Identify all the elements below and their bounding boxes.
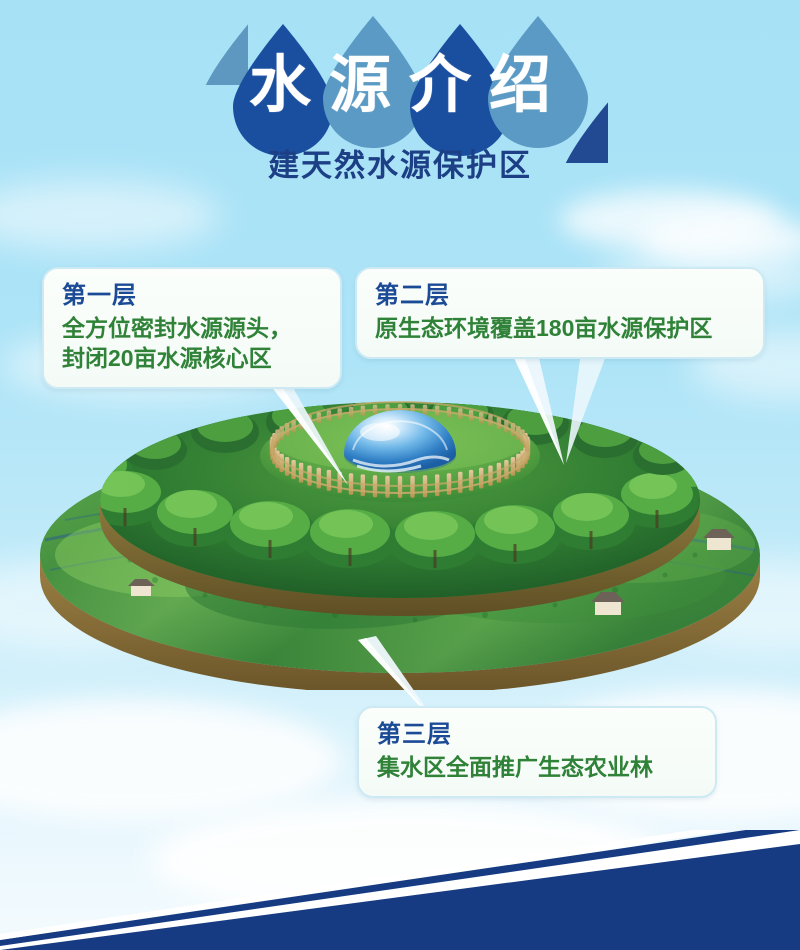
callout-body: 全方位密封水源源头， 封闭20亩水源核心区 — [62, 313, 322, 373]
callout-title: 第一层 — [62, 281, 322, 311]
page-subtitle: 建天然水源保护区 — [0, 146, 800, 186]
page-title: 水源介绍 — [0, 55, 800, 117]
callout-body: 原生态环境覆盖180亩水源保护区 — [375, 313, 745, 343]
pointer-layer-2-right — [470, 345, 660, 485]
callout-layer-1[interactable]: 第一层 全方位密封水源源头， 封闭20亩水源核心区 — [42, 267, 342, 389]
callout-layer-3[interactable]: 第三层 集水区全面推广生态农业林 — [357, 706, 717, 798]
callout-layer-2[interactable]: 第二层 原生态环境覆盖180亩水源保护区 — [355, 267, 765, 359]
cloud — [0, 700, 340, 820]
poster-canvas: 水源介绍 建天然水源保护区 — [0, 0, 800, 950]
callout-body: 集水区全面推广生态农业林 — [377, 752, 697, 782]
bottom-diagonal-bands — [0, 830, 800, 950]
callout-title: 第三层 — [377, 720, 697, 750]
callout-title: 第二层 — [375, 281, 745, 311]
